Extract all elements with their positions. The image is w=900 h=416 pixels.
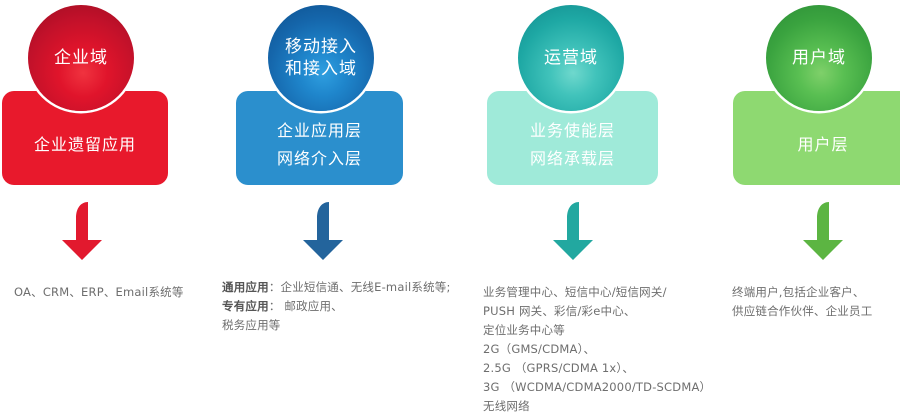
sphere-label-group: 用户域 — [792, 47, 846, 69]
caption-text: 业务管理中心、短信中心/短信网关/ — [483, 285, 667, 299]
caption-line: OA、CRM、ERP、Email系统等 — [14, 283, 184, 302]
caption-line: 无线网络 — [483, 397, 711, 416]
caption-operation-domain-networks: 2G（GMS/CDMA）、 2.5G （GPRS/CDMA 1x）、 3G （W… — [483, 340, 711, 416]
caption-text-bold: 专有应用 — [222, 299, 269, 313]
diagram-canvas: 企业遗留应用 企业域 OA、CRM、ERP、Email系统等 企业应用层 网络介… — [0, 0, 900, 404]
sphere-label-line: 运营域 — [544, 47, 598, 69]
sphere-enterprise-domain[interactable]: 企业域 — [28, 5, 134, 111]
column-mobile-access-domain: 企业应用层 网络介入层 移动接入 和接入域 通用应用：企业短信通、无线E-mai… — [222, 0, 452, 404]
sphere-label-line: 移动接入 — [285, 36, 357, 58]
caption-text: 2.5G （GPRS/CDMA 1x）、 — [483, 361, 634, 375]
caption-line: 税务应用等 — [222, 316, 451, 335]
panel-label-line: 业务使能层 — [487, 117, 658, 145]
panel-label-line: 网络介入层 — [236, 145, 403, 173]
sphere-operation-domain[interactable]: 运营域 — [518, 5, 624, 111]
caption-line: 定位业务中心等 — [483, 321, 667, 340]
panel-label-line: 企业遗留应用 — [2, 131, 168, 159]
down-arrow-icon — [546, 200, 604, 262]
panel-label-line: 用户层 — [733, 131, 900, 159]
column-user-domain: 用户层 用户域 终端用户,包括企业客户、 供应链合作伙伴、企业员工 — [720, 0, 900, 404]
caption-line: 2G（GMS/CDMA）、 — [483, 340, 711, 359]
sphere-label-group: 移动接入 和接入域 — [285, 36, 357, 80]
caption-line: 专有应用： 邮政应用、 — [222, 297, 451, 316]
caption-text: 供应链合作伙伴、企业员工 — [732, 304, 872, 318]
caption-text: 定位业务中心等 — [483, 323, 565, 337]
caption-line: 2.5G （GPRS/CDMA 1x）、 — [483, 359, 711, 378]
sphere-label-group: 运营域 — [544, 47, 598, 69]
caption-line: PUSH 网关、彩信/彩e中心、 — [483, 302, 667, 321]
caption-text: PUSH 网关、彩信/彩e中心、 — [483, 304, 636, 318]
down-arrow-icon — [296, 200, 354, 262]
caption-user-domain: 终端用户,包括企业客户、 供应链合作伙伴、企业员工 — [732, 283, 872, 321]
caption-text: 3G （WCDMA/CDMA2000/TD-SCDMA） — [483, 380, 711, 394]
caption-text-bold: 通用应用 — [222, 280, 269, 294]
panel-label-line: 网络承载层 — [487, 145, 658, 173]
caption-line: 3G （WCDMA/CDMA2000/TD-SCDMA） — [483, 378, 711, 397]
caption-text: 终端用户,包括企业客户、 — [732, 285, 865, 299]
caption-mobile-access-domain: 通用应用：企业短信通、无线E-mail系统等; 专有应用： 邮政应用、 税务应用… — [222, 278, 451, 335]
column-enterprise-domain: 企业遗留应用 企业域 OA、CRM、ERP、Email系统等 — [0, 0, 210, 404]
panel-label-group: 业务使能层 网络承载层 — [487, 103, 658, 173]
sphere-label-group: 企业域 — [54, 47, 108, 69]
caption-line: 业务管理中心、短信中心/短信网关/ — [483, 283, 667, 302]
sphere-user-domain[interactable]: 用户域 — [766, 5, 872, 111]
caption-text: 无线网络 — [483, 399, 530, 413]
caption-text: 税务应用等 — [222, 318, 281, 332]
sphere-label-line: 和接入域 — [285, 58, 357, 80]
caption-enterprise-domain: OA、CRM、ERP、Email系统等 — [14, 283, 184, 302]
caption-line: 供应链合作伙伴、企业员工 — [732, 302, 872, 321]
caption-line: 终端用户,包括企业客户、 — [732, 283, 872, 302]
caption-operation-domain-services: 业务管理中心、短信中心/短信网关/ PUSH 网关、彩信/彩e中心、 定位业务中… — [483, 283, 667, 340]
column-operation-domain: 业务使能层 网络承载层 运营域 业务管理中心、短信中心/短信网关/ PUSH 网… — [470, 0, 705, 404]
panel-label-group: 企业应用层 网络介入层 — [236, 103, 403, 173]
panel-label-line: 企业应用层 — [236, 117, 403, 145]
caption-text: 2G（GMS/CDMA）、 — [483, 342, 595, 356]
caption-text: OA、CRM、ERP、Email系统等 — [14, 285, 184, 299]
sphere-label-line: 企业域 — [54, 47, 108, 69]
sphere-label-line: 用户域 — [792, 47, 846, 69]
panel-label-group: 企业遗留应用 — [2, 117, 168, 159]
caption-text: ： 邮政应用、 — [269, 299, 343, 313]
down-arrow-icon — [55, 200, 113, 262]
caption-text: ：企业短信通、无线E-mail系统等; — [269, 280, 451, 294]
down-arrow-icon — [796, 200, 854, 262]
panel-label-group: 用户层 — [733, 117, 900, 159]
caption-line: 通用应用：企业短信通、无线E-mail系统等; — [222, 278, 451, 297]
sphere-mobile-access-domain[interactable]: 移动接入 和接入域 — [268, 5, 374, 111]
